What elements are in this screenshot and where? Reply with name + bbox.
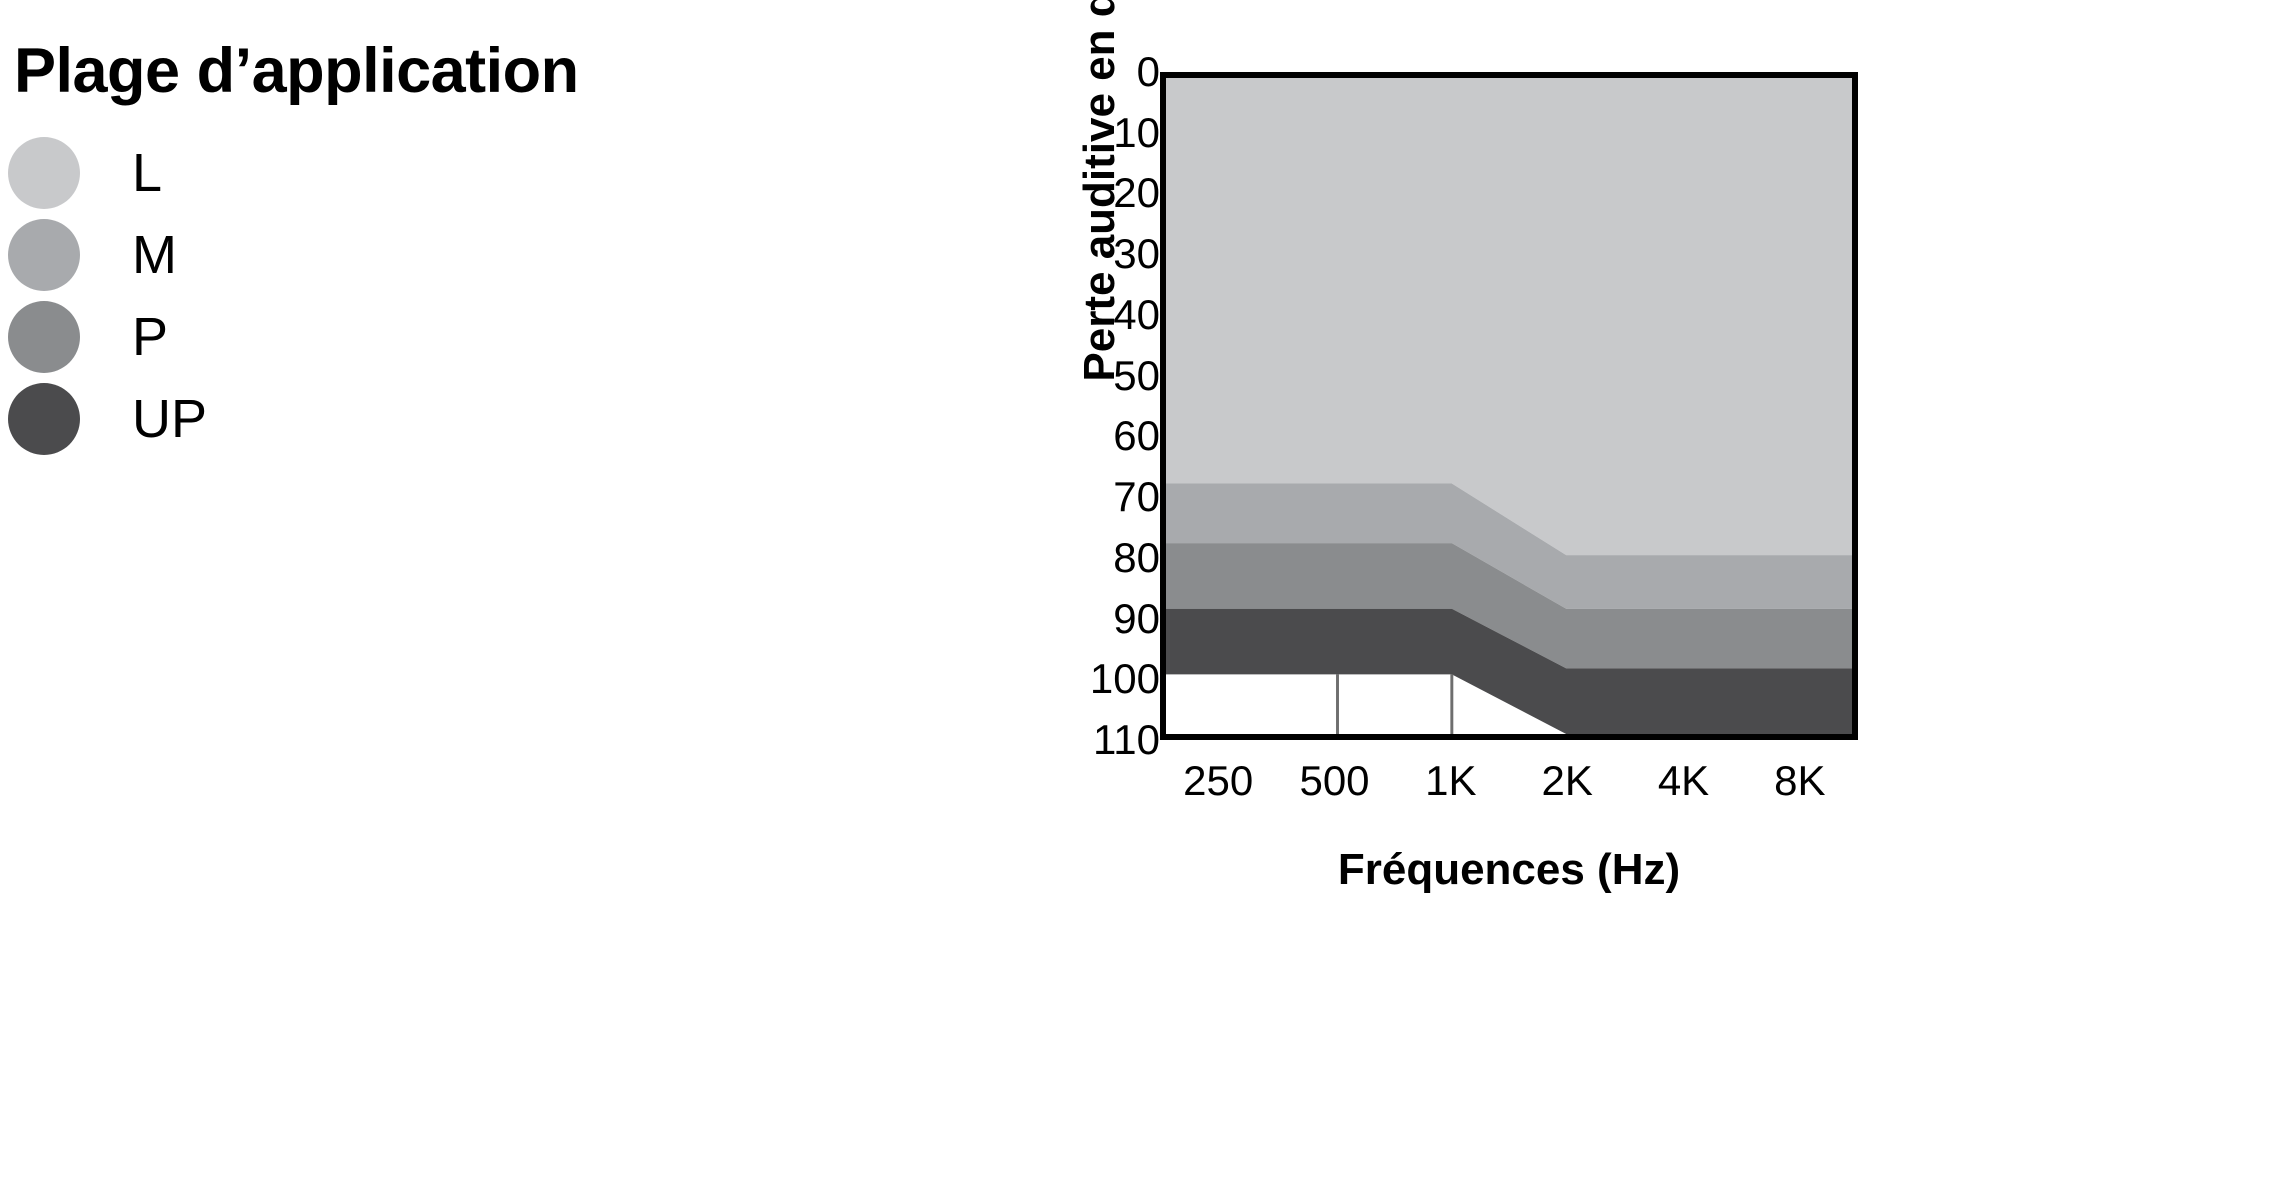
- x-axis-tick-label: 8K: [1774, 760, 1825, 802]
- audiogram-chart: Perte auditive en dB (HL) 01020304050607…: [900, 0, 2280, 1000]
- y-axis-tick-label: 20: [1113, 172, 1160, 214]
- legend-item-l: L: [8, 137, 162, 209]
- y-axis-tick-label: 90: [1113, 598, 1160, 640]
- y-axis-tick-label: 0: [1137, 51, 1160, 93]
- y-axis-tick-label: 30: [1113, 233, 1160, 275]
- x-axis-tick-label: 500: [1299, 760, 1369, 802]
- page-title: Plage d’application: [14, 40, 579, 103]
- legend-swatch-circle-icon: [8, 219, 80, 291]
- y-axis-tick-label: 80: [1113, 537, 1160, 579]
- y-axis-tick-label: 60: [1113, 415, 1160, 457]
- y-axis-tick-label: 110: [1093, 719, 1160, 761]
- area-bands-svg: [1166, 78, 1852, 734]
- legend-item-m: M: [8, 219, 177, 291]
- y-axis-tick-label: 40: [1113, 294, 1160, 336]
- y-axis-tick-label: 100: [1090, 658, 1160, 700]
- legend-item-p: P: [8, 301, 168, 373]
- legend-swatch-circle-icon: [8, 383, 80, 455]
- y-axis-tick-labels: 0102030405060708090100110: [1000, 0, 1160, 760]
- x-axis-tick-label: 1K: [1425, 760, 1476, 802]
- legend-item-label: P: [132, 310, 168, 364]
- legend-item-label: L: [132, 146, 162, 200]
- legend-swatch-circle-icon: [8, 137, 80, 209]
- legend-item-label: UP: [132, 392, 207, 446]
- legend-item-up: UP: [8, 383, 207, 455]
- x-axis-title: Fréquences (Hz): [1160, 845, 1858, 895]
- x-axis-tick-label: 4K: [1658, 760, 1709, 802]
- y-axis-tick-label: 50: [1113, 355, 1160, 397]
- y-axis-tick-label: 10: [1113, 112, 1160, 154]
- legend-swatch-circle-icon: [8, 301, 80, 373]
- legend-item-label: M: [132, 228, 177, 282]
- x-axis-tick-labels: 2505001K2K4K8K: [1160, 760, 1858, 820]
- x-axis-tick-label: 250: [1183, 760, 1253, 802]
- y-axis-tick-label: 70: [1113, 476, 1160, 518]
- legend-panel: Plage d’application L M P UP: [0, 0, 880, 760]
- plot-area: [1160, 72, 1858, 740]
- x-axis-tick-label: 2K: [1541, 760, 1592, 802]
